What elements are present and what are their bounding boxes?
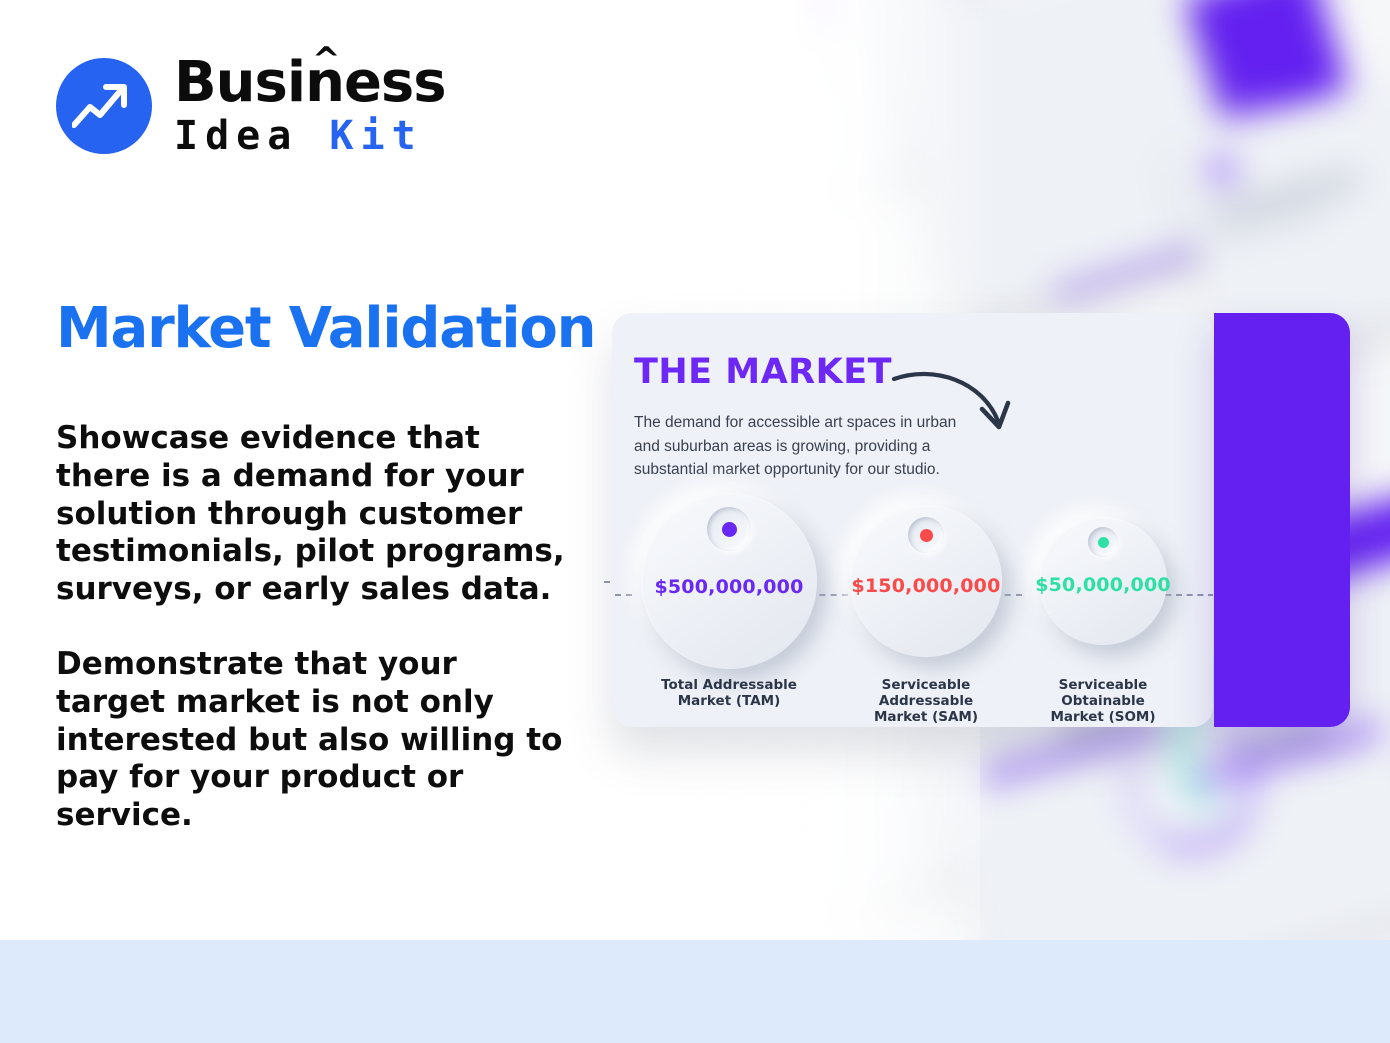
- market-item-sam[interactable]: $150,000,000 Serviceable Addressable Mar…: [837, 493, 1015, 657]
- body-paragraph-2: Demonstrate that your target market is n…: [56, 646, 576, 835]
- market-bubble-tam: $500,000,000: [641, 493, 817, 669]
- market-label-som-line1: Serviceable Obtainable: [1059, 677, 1148, 709]
- body-paragraph-1: Showcase evidence that there is a demand…: [56, 420, 576, 609]
- market-bubble-som: $50,000,000: [1039, 517, 1167, 645]
- brand-name-idea: Idea: [174, 113, 298, 159]
- market-label-tam-line2: Market (TAM): [678, 693, 781, 709]
- market-dot-icon: [1098, 537, 1109, 548]
- market-label-sam-line2: Market (SAM): [874, 709, 978, 725]
- market-dot-icon: [920, 529, 933, 542]
- brand-name-text: Business: [174, 50, 446, 115]
- market-label-som-line2: Market (SOM): [1050, 709, 1155, 725]
- market-slide-card[interactable]: THE MARKET The demand for accessible art…: [612, 313, 1213, 727]
- connector-dash-left: [612, 594, 632, 596]
- brand-logo: Business ^ Idea Kit: [56, 55, 446, 156]
- slide-accent-block: [1214, 313, 1350, 727]
- market-bubble-sam: $150,000,000: [850, 505, 1002, 657]
- curved-arrow-down-right-icon: [890, 363, 1022, 445]
- brand-name-line1: Business ^: [174, 55, 446, 111]
- market-item-tam[interactable]: $500,000,000 Total Addressable Market (T…: [630, 493, 828, 669]
- market-dot-icon: [722, 522, 737, 537]
- market-dot-well-som: [1088, 527, 1118, 557]
- page-title: Market Validation: [56, 296, 595, 361]
- market-label-sam-line1: Serviceable Addressable: [879, 677, 973, 709]
- market-amount-tam: $500,000,000: [654, 576, 803, 598]
- growth-arrow-chart-icon: [56, 58, 152, 154]
- market-bubbles-row: $500,000,000 Total Addressable Market (T…: [612, 493, 1213, 683]
- market-item-som[interactable]: $50,000,000 Serviceable Obtainable Marke…: [1017, 493, 1189, 645]
- market-amount-som: $50,000,000: [1035, 574, 1171, 596]
- brand-wordmark: Business ^ Idea Kit: [174, 55, 446, 156]
- bottom-color-band: [0, 940, 1390, 1043]
- slide-heading: THE MARKET: [634, 352, 892, 392]
- brand-name-line2: Idea Kit: [174, 116, 446, 156]
- market-label-sam: Serviceable Addressable Market (SAM): [837, 678, 1015, 726]
- brand-name-kit: Kit: [329, 113, 422, 159]
- slide-page: Business ^ Idea Kit Market Validation Sh…: [0, 0, 1390, 1043]
- market-amount-sam: $150,000,000: [851, 575, 1000, 597]
- market-dot-well-sam: [908, 517, 944, 553]
- market-label-tam-line1: Total Addressable: [661, 677, 797, 693]
- circumflex-accent-icon: ^: [312, 43, 340, 77]
- market-label-tam: Total Addressable Market (TAM): [630, 678, 828, 710]
- market-dot-well-tam: [707, 507, 751, 551]
- market-label-som: Serviceable Obtainable Market (SOM): [1017, 678, 1189, 726]
